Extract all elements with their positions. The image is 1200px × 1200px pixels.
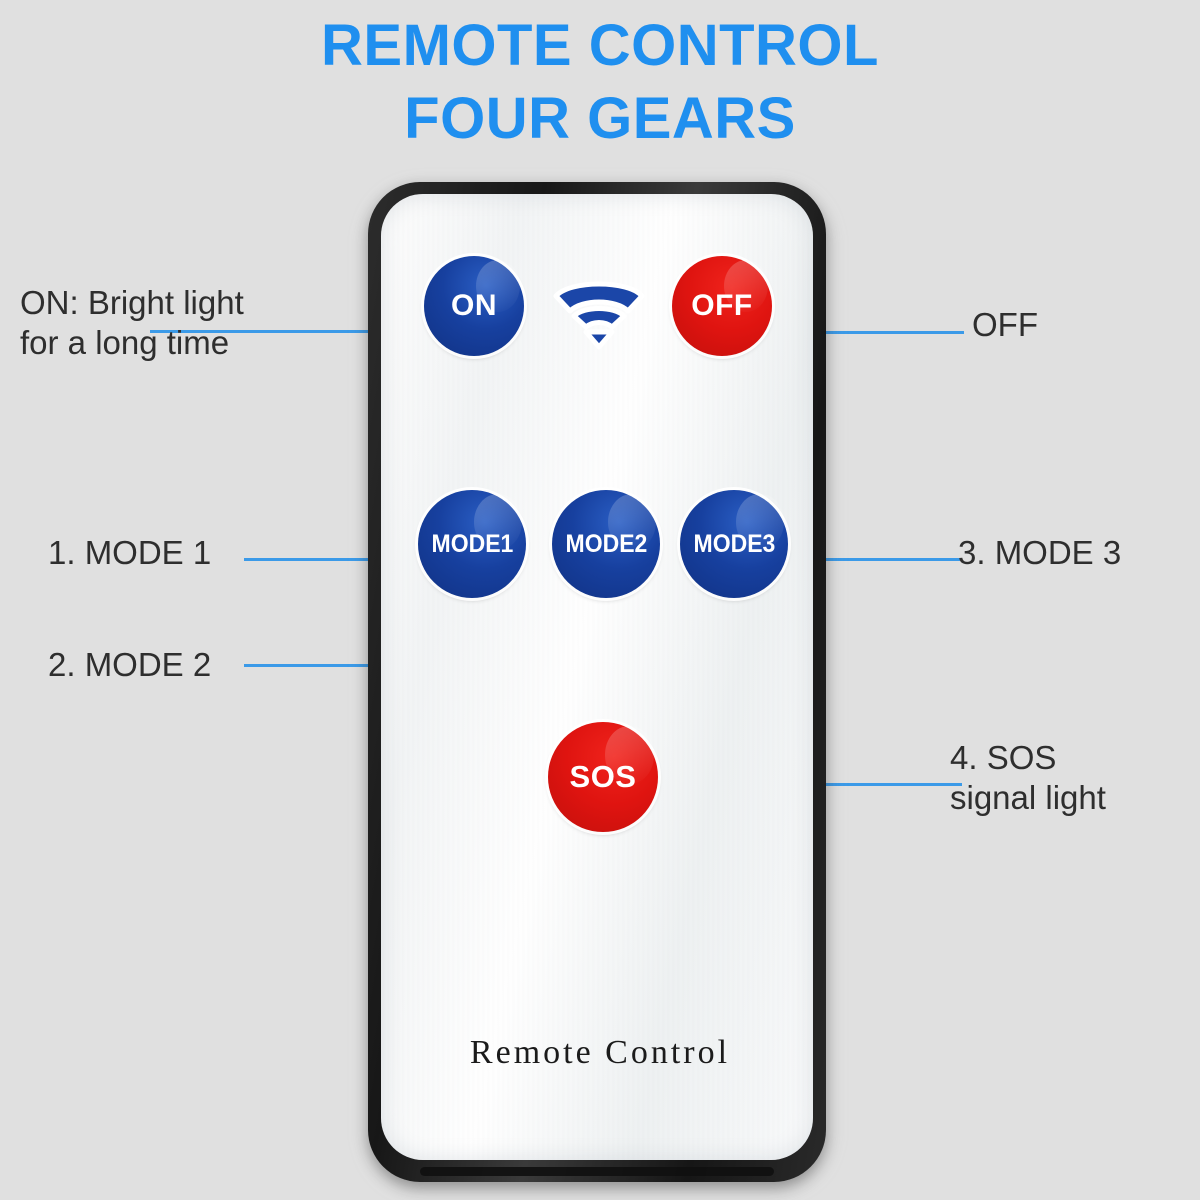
page-title: REMOTE CONTROL FOUR GEARS [0, 16, 1200, 148]
sos-button-label: SOS [570, 759, 637, 795]
on-button[interactable]: ON [424, 256, 524, 356]
mode2-button-label: MODE2 [565, 530, 647, 559]
mode3-button[interactable]: MODE3 [680, 490, 788, 598]
callout-label-mode2: 2. MODE 2 [48, 645, 348, 685]
callout-label-on: ON: Bright light for a long time [20, 283, 350, 364]
mode1-button-label: MODE1 [431, 530, 513, 559]
callout-label-off: OFF [972, 305, 1182, 345]
sos-button[interactable]: SOS [548, 722, 658, 832]
title-line-1: REMOTE CONTROL [0, 16, 1200, 75]
callout-label-mode1: 1. MODE 1 [48, 533, 348, 573]
mode2-button[interactable]: MODE2 [552, 490, 660, 598]
title-line-2: FOUR GEARS [0, 89, 1200, 148]
remote-bottom-lip [420, 1167, 774, 1176]
off-button-label: OFF [691, 289, 753, 323]
callout-label-sos: 4. SOS signal light [950, 738, 1190, 819]
infographic-page: REMOTE CONTROL FOUR GEARS ON [0, 0, 1200, 1200]
callout-label-mode3: 3. MODE 3 [958, 533, 1188, 573]
device-brand-text: Remote Control [0, 1034, 1200, 1072]
off-button[interactable]: OFF [672, 256, 772, 356]
mode1-button[interactable]: MODE1 [418, 490, 526, 598]
mode3-button-label: MODE3 [693, 530, 775, 559]
wifi-signal-icon [552, 276, 646, 350]
on-button-label: ON [451, 289, 497, 323]
